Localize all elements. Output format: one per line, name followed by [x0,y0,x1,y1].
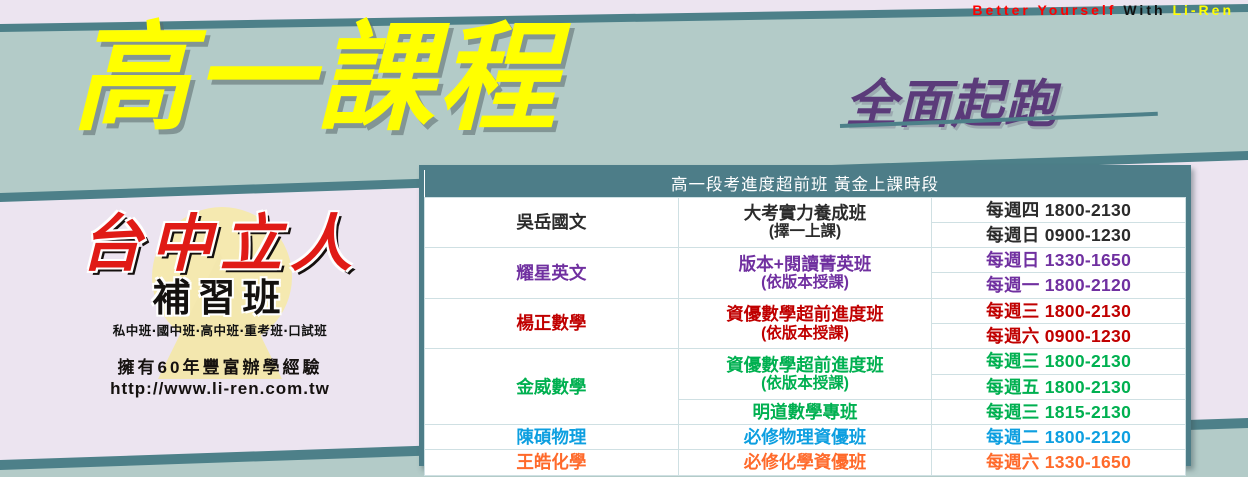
course-title: 必修物理資優班 [744,427,867,447]
course-note: (擇一上課) [683,223,928,241]
course-cell: 資優數學超前進度班(依版本授課) [678,298,932,349]
schedule-table-body: 吳岳國文大考實力養成班(擇一上課)每週四 1800-2130每週日 0900-1… [425,197,1186,475]
course-title: 版本+閱讀菁英班 [739,254,872,274]
time-cell: 每週三 1800-2130 [932,349,1186,374]
course-cell: 必修物理資優班 [678,425,932,450]
teacher-cell: 耀星英文 [425,248,679,299]
table-row: 王皓化學必修化學資優班每週六 1330-1650 [425,450,1186,475]
teacher-cell: 吳岳國文 [425,197,679,248]
time-cell: 每週四 1800-2130 [932,197,1186,222]
course-note: (依版本授課) [683,325,928,343]
teacher-cell: 陳碩物理 [425,425,679,450]
tagline-part-yellow: Li-Ren [1172,2,1234,18]
teacher-cell: 王皓化學 [425,450,679,475]
time-cell: 每週六 0900-1230 [932,323,1186,348]
page-title: 高一課程 [72,12,560,144]
course-cell: 版本+閱讀菁英班(依版本授課) [678,248,932,299]
course-note: (依版本授課) [683,274,928,292]
time-cell: 每週日 0900-1230 [932,222,1186,247]
schedule-table-container: 高一段考進度超前班 黃金上課時段 吳岳國文大考實力養成班(擇一上課)每週四 18… [419,165,1191,466]
logo-class-list: 私中班‧國中班‧高中班‧重考班‧口試班 [40,320,400,339]
time-cell: 每週二 1800-2120 [932,425,1186,450]
course-title: 必修化學資優班 [744,452,867,472]
schedule-header-title: 高一段考進度超前班 黃金上課時段 [425,170,1186,197]
teacher-cell: 楊正數學 [425,298,679,349]
table-row: 耀星英文版本+閱讀菁英班(依版本授課)每週日 1330-1650 [425,248,1186,273]
time-cell: 每週一 1800-2120 [932,273,1186,298]
tagline-part-red: Better Yourself [972,2,1116,18]
time-cell: 每週日 1330-1650 [932,248,1186,273]
time-cell: 每週五 1800-2130 [932,374,1186,399]
teacher-cell: 金威數學 [425,349,679,425]
course-cell: 大考實力養成班(擇一上課) [678,197,932,248]
table-row: 金威數學資優數學超前進度班(依版本授課)每週三 1800-2130 [425,349,1186,374]
course-title: 大考實力養成班 [744,203,867,223]
course-title: 資優數學超前進度班 [726,355,884,375]
tagline-part-black: With [1123,2,1165,18]
tagline: Better Yourself With Li-Ren [972,2,1234,18]
brand-logo: 台中立人 補習班 私中班‧國中班‧高中班‧重考班‧口試班 擁有60年豐富辦學經驗… [40,213,400,399]
logo-name: 台中立人 [40,213,400,275]
course-cell: 必修化學資優班 [678,450,932,475]
course-title: 明道數學專班 [752,402,857,422]
schedule-table: 高一段考進度超前班 黃金上課時段 吳岳國文大考實力養成班(擇一上課)每週四 18… [424,170,1186,476]
logo-experience: 擁有60年豐富辦學經驗 [40,353,400,378]
logo-type: 補習班 [40,279,400,317]
table-row: 陳碩物理必修物理資優班每週二 1800-2120 [425,425,1186,450]
time-cell: 每週三 1800-2130 [932,298,1186,323]
course-cell: 資優數學超前進度班(依版本授課) [678,349,932,400]
logo-website-url[interactable]: http://www.li-ren.com.tw [40,379,400,399]
course-note: (依版本授課) [683,375,928,393]
course-title: 資優數學超前進度班 [726,304,884,324]
table-row: 楊正數學資優數學超前進度班(依版本授課)每週三 1800-2130 [425,298,1186,323]
time-cell: 每週六 1330-1650 [932,450,1186,475]
schedule-header-row: 高一段考進度超前班 黃金上課時段 [425,170,1186,197]
course-cell: 明道數學專班 [678,399,932,424]
time-cell: 每週三 1815-2130 [932,399,1186,424]
table-row: 吳岳國文大考實力養成班(擇一上課)每週四 1800-2130 [425,197,1186,222]
schedule-table-head: 高一段考進度超前班 黃金上課時段 [425,170,1186,197]
